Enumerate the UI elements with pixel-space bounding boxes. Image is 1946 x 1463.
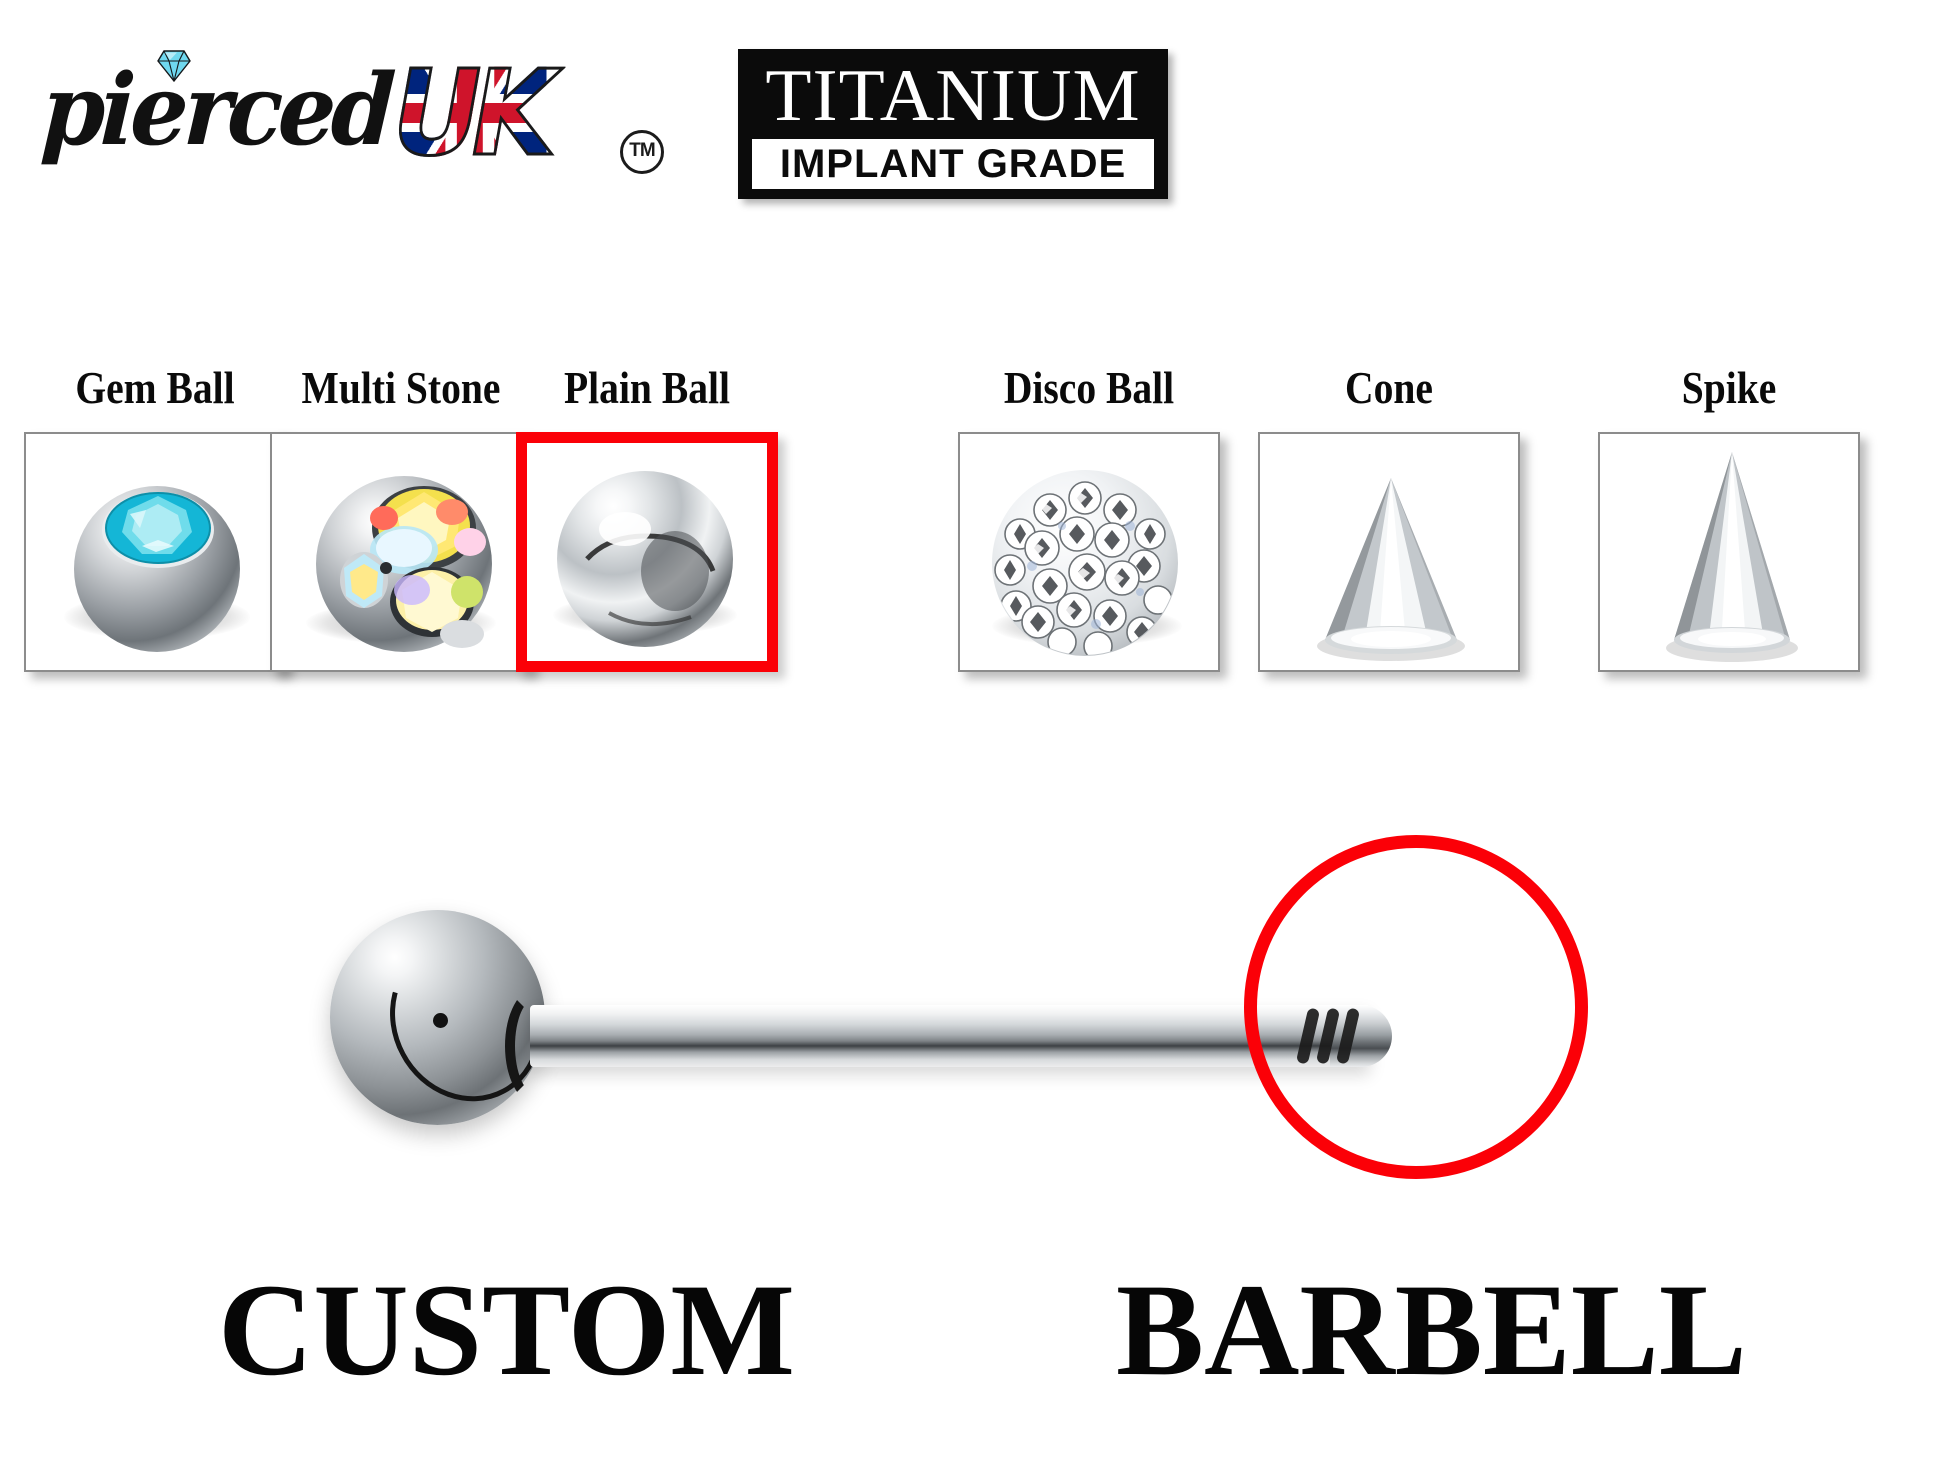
option-label: Multi Stone bbox=[288, 360, 513, 416]
option-gem-ball[interactable]: Gem Ball bbox=[24, 360, 286, 672]
disco-ball-icon bbox=[960, 434, 1218, 670]
highlight-circle bbox=[1244, 835, 1588, 1179]
option-label: Spike bbox=[1616, 360, 1841, 416]
option-thumbnail-box[interactable] bbox=[1258, 432, 1520, 672]
caption-custom: CUSTOM bbox=[218, 1255, 795, 1405]
option-label: Gem Ball bbox=[42, 360, 267, 416]
badge-title: TITANIUM bbox=[742, 55, 1164, 137]
multi-stone-icon bbox=[272, 434, 530, 670]
titanium-implant-grade-badge: TITANIUM IMPLANT GRADE bbox=[738, 49, 1168, 199]
option-label: Disco Ball bbox=[976, 360, 1201, 416]
option-thumbnail-box[interactable] bbox=[1598, 432, 1860, 672]
brand-name-pierced: pierced bbox=[39, 62, 393, 160]
cone-icon bbox=[1260, 434, 1518, 670]
caption-barbell: BARBELL bbox=[1116, 1255, 1747, 1405]
option-disco-ball[interactable]: Disco Ball bbox=[958, 360, 1220, 672]
option-label: Cone bbox=[1276, 360, 1501, 416]
option-label: Plain Ball bbox=[534, 360, 759, 416]
option-thumbnail-box-selected[interactable] bbox=[516, 432, 778, 672]
option-plain-ball[interactable]: Plain Ball bbox=[516, 360, 778, 672]
barbell-product-image bbox=[0, 760, 1946, 1260]
badge-subtitle: IMPLANT GRADE bbox=[752, 139, 1154, 189]
brand-name-uk-flag: UK bbox=[393, 54, 547, 172]
brand-logo[interactable]: pierced UK TM bbox=[44, 48, 664, 178]
option-thumbnail-box[interactable] bbox=[24, 432, 286, 672]
gem-ball-icon bbox=[26, 434, 284, 670]
header: pierced UK TM TITANIUM IMPLANT GRADE bbox=[0, 0, 1946, 210]
option-thumbnail-box[interactable] bbox=[958, 432, 1220, 672]
plain-ball-icon bbox=[527, 443, 767, 661]
trademark-icon: TM bbox=[620, 130, 664, 174]
option-spike[interactable]: Spike bbox=[1598, 360, 1860, 672]
option-cone[interactable]: Cone bbox=[1258, 360, 1520, 672]
product-caption: CUSTOM BARBELL bbox=[0, 1255, 1946, 1425]
badge-subtitle-strip: IMPLANT GRADE bbox=[752, 139, 1154, 189]
option-thumbnail-box[interactable] bbox=[270, 432, 532, 672]
spike-icon bbox=[1600, 434, 1858, 670]
option-multi-stone[interactable]: Multi Stone bbox=[270, 360, 532, 672]
ball-style-options: Gem Ball Multi Stone bbox=[0, 360, 1946, 730]
ball-pin-hole bbox=[433, 1013, 448, 1028]
